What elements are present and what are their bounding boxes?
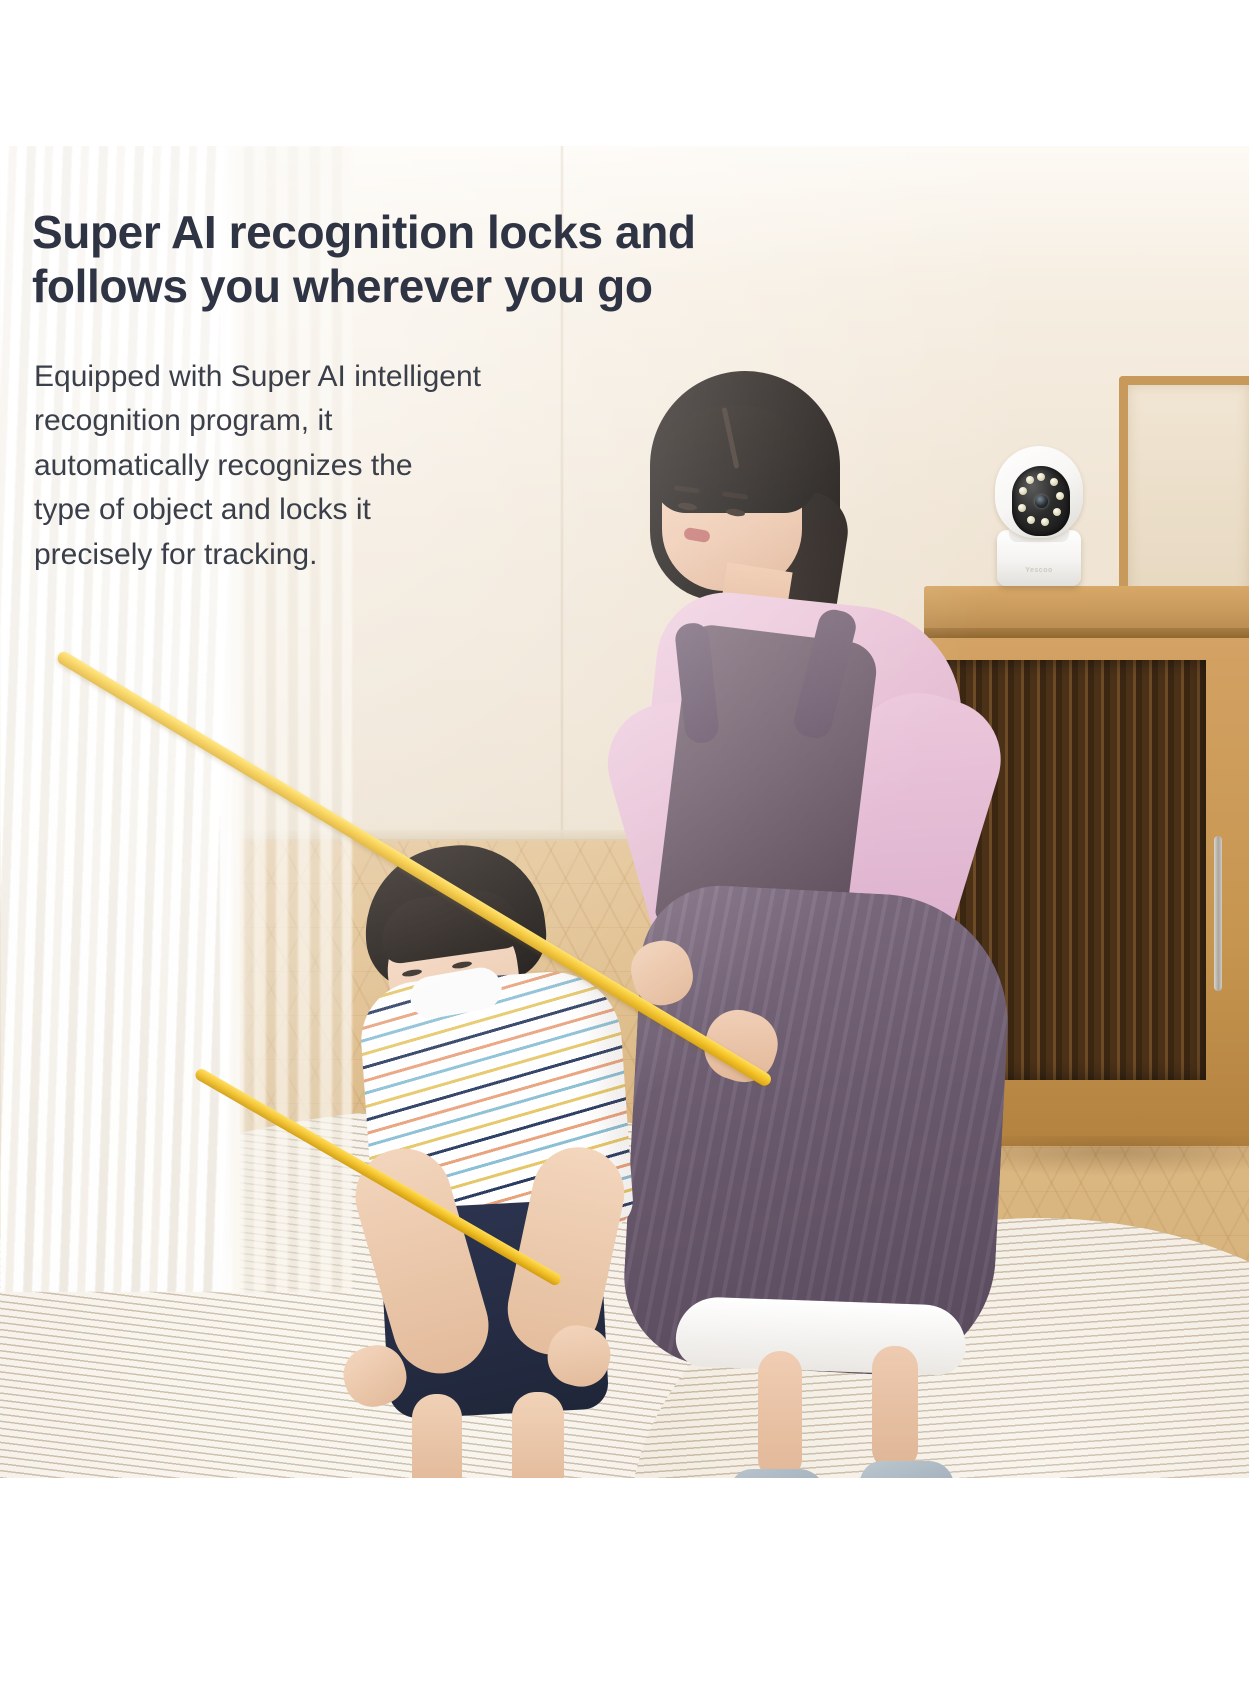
woman-figure (610, 371, 1010, 1478)
ir-led (1019, 487, 1027, 495)
headline-line-1: Super AI recognition locks and (32, 206, 696, 258)
body-line-4: type of object and locks it (34, 488, 634, 532)
ir-led (1027, 516, 1035, 524)
ir-led (1026, 476, 1034, 484)
ir-led (1053, 508, 1061, 516)
woman-left-leg (758, 1351, 802, 1478)
body-line-3: automatically recognizes the (34, 444, 634, 488)
cabinet-handle (1214, 836, 1222, 991)
body-line-2: recognition program, it (34, 399, 634, 443)
page-body-copy: Equipped with Super AI intelligent recog… (34, 355, 634, 577)
camera-lens (1035, 495, 1048, 508)
headline-line-2: follows you wherever you go (32, 259, 872, 313)
page-headline: Super AI recognition locks and follows y… (32, 205, 872, 314)
woman-slipper-left (730, 1469, 826, 1478)
ir-led (1050, 478, 1058, 486)
body-line-5: precisely for tracking. (34, 533, 634, 577)
woman-white-underskirt (675, 1296, 967, 1376)
lifestyle-photo: Yescoo (0, 146, 1249, 1478)
boy-right-leg (512, 1392, 564, 1478)
woman-slipper-right (860, 1461, 954, 1478)
ir-led (1041, 518, 1049, 526)
boy-figure (352, 846, 652, 1478)
wall-mirror (1119, 376, 1249, 621)
woman-right-leg (872, 1346, 918, 1471)
ir-led (1037, 473, 1045, 481)
sheer-curtain (0, 146, 240, 1292)
boy-left-leg (412, 1394, 462, 1478)
ir-led (1056, 492, 1064, 500)
camera-lens-plate (1012, 466, 1070, 536)
body-line-1: Equipped with Super AI intelligent (34, 355, 634, 399)
ir-led (1018, 504, 1026, 512)
product-feature-page: Yescoo (0, 0, 1249, 1703)
